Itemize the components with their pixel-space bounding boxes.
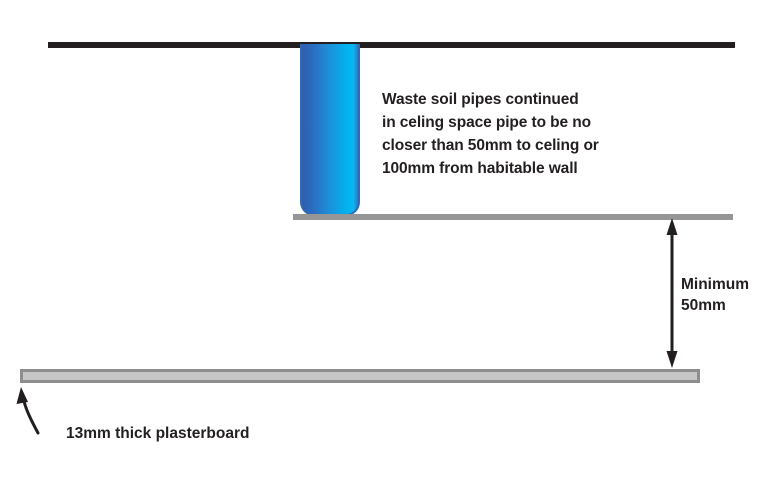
- plasterboard-label: 13mm thick plasterboard: [66, 425, 249, 443]
- annotation-arrows-layer: [0, 0, 768, 480]
- pipe-clearance-note: Waste soil pipes continued in celing spa…: [382, 88, 599, 180]
- note-line-2: in celing space pipe to be no: [382, 114, 591, 131]
- dimension-qualifier: Minimum: [681, 276, 749, 293]
- dimension-value: 50mm: [681, 297, 726, 314]
- note-line-1: Waste soil pipes continued: [382, 91, 579, 108]
- plasterboard-bar: [20, 369, 700, 383]
- structural-slab-line: [48, 42, 735, 48]
- plasterboard-callout-arrow-icon: [17, 387, 39, 433]
- ceiling-line: [293, 214, 733, 220]
- minimum-dimension-label: Minimum 50mm: [681, 274, 749, 316]
- waste-soil-pipe: [300, 44, 360, 216]
- note-line-3: closer than 50mm to celing or: [382, 137, 599, 154]
- note-line-4: 100mm from habitable wall: [382, 160, 578, 177]
- minimum-dimension-arrow-icon: [667, 218, 678, 368]
- diagram-canvas: Waste soil pipes continued in celing spa…: [0, 0, 768, 480]
